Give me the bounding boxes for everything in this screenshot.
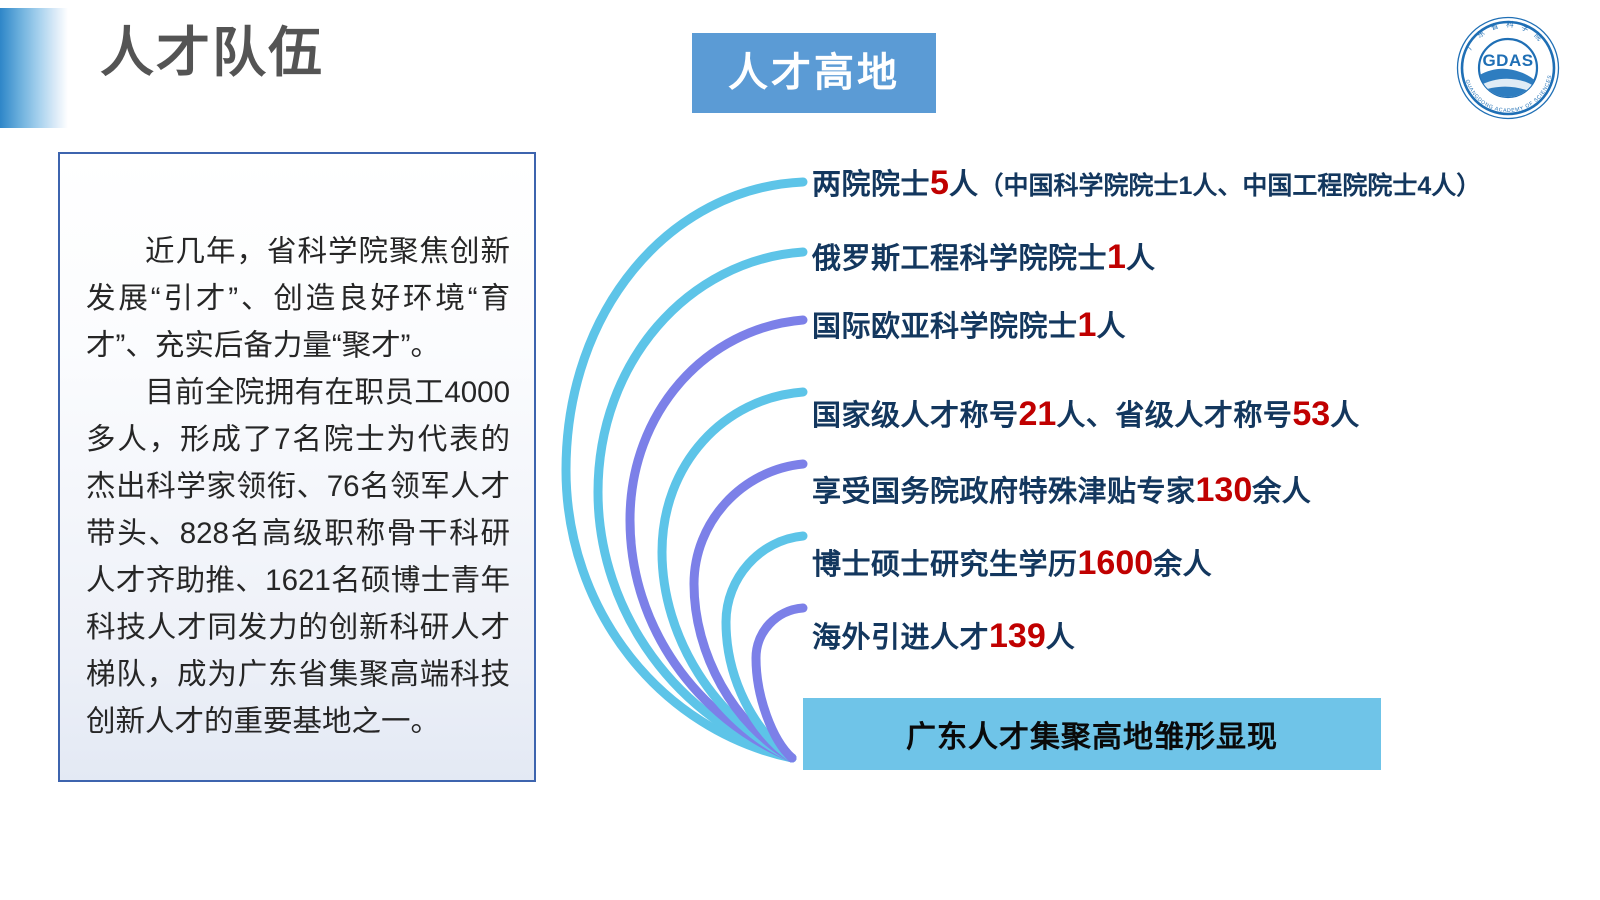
gdas-logo: GDAS 广 东 省 科 学 院 GUANGDONG ACADEMY OF SC… (1456, 16, 1560, 120)
heading-chip-label: 人才高地 (728, 53, 900, 93)
accent-bar (0, 8, 68, 128)
stat-suffix: 人、省级人才称号 (1056, 400, 1292, 432)
arc-fan-icon (520, 140, 840, 780)
description-paragraph-2: 目前全院拥有在职员工4000多人，形成了7名院士为代表的杰出科学家领衔、76名领… (86, 369, 510, 745)
stat-prefix: 俄罗斯工程科学院院士 (812, 243, 1107, 275)
stat-number: 130 (1196, 471, 1253, 509)
heading-chip: 人才高地 (692, 33, 936, 113)
stat-suffix-secondary: 人 (1330, 400, 1360, 432)
summary-banner-label: 广东人才集聚高地雏形显现 (906, 712, 1278, 756)
stat-number: 1 (1078, 306, 1097, 344)
stat-prefix: 国际欧亚科学院院士 (812, 311, 1078, 343)
stat-number: 1600 (1078, 544, 1154, 582)
stat-number-secondary: 53 (1292, 395, 1330, 433)
stat-prefix: 海外引进人才 (812, 622, 989, 654)
stat-row: 俄罗斯工程科学院院士1人 (812, 240, 1155, 274)
arc-fan (520, 140, 840, 780)
summary-banner: 广东人才集聚高地雏形显现 (803, 698, 1381, 770)
stat-prefix: 博士硕士研究生学历 (812, 549, 1078, 581)
stat-prefix: 国家级人才称号 (812, 400, 1019, 432)
page-title: 人才队伍 (100, 26, 324, 80)
description-card: 近几年，省科学院聚焦创新发展“引才”、创造良好环境“育才”、充实后备力量“聚才”… (58, 152, 536, 782)
svg-text:GDAS: GDAS (1482, 51, 1533, 70)
stat-number: 21 (1019, 395, 1057, 433)
gdas-logo-icon: GDAS 广 东 省 科 学 院 GUANGDONG ACADEMY OF SC… (1456, 16, 1560, 120)
stat-row: 国际欧亚科学院院士1人 (812, 308, 1126, 342)
stat-suffix: 人 (1126, 243, 1156, 275)
stat-suffix: 人 (1046, 622, 1076, 654)
stat-suffix: 余人 (1252, 476, 1311, 508)
stat-number: 1 (1107, 238, 1126, 276)
stat-number: 5 (930, 164, 949, 202)
stat-row: 海外引进人才139人 (812, 619, 1075, 653)
stat-prefix: 两院院士 (812, 169, 930, 201)
stat-suffix: 人 (949, 169, 979, 201)
stat-suffix: 余人 (1153, 549, 1212, 581)
stat-row: 国家级人才称号21人、省级人才称号53人 (812, 397, 1360, 431)
stat-detail: （中国科学院院士1人、中国工程院院士4人） (978, 172, 1481, 200)
stat-suffix: 人 (1096, 311, 1126, 343)
stat-row: 博士硕士研究生学历1600余人 (812, 546, 1212, 580)
stat-prefix: 享受国务院政府特殊津贴专家 (812, 476, 1196, 508)
stat-row: 享受国务院政府特殊津贴专家130余人 (812, 473, 1311, 507)
stat-row: 两院院士5人（中国科学院院士1人、中国工程院院士4人） (812, 166, 1481, 200)
stat-number: 139 (989, 617, 1046, 655)
description-paragraph-1: 近几年，省科学院聚焦创新发展“引才”、创造良好环境“育才”、充实后备力量“聚才”… (86, 228, 510, 369)
